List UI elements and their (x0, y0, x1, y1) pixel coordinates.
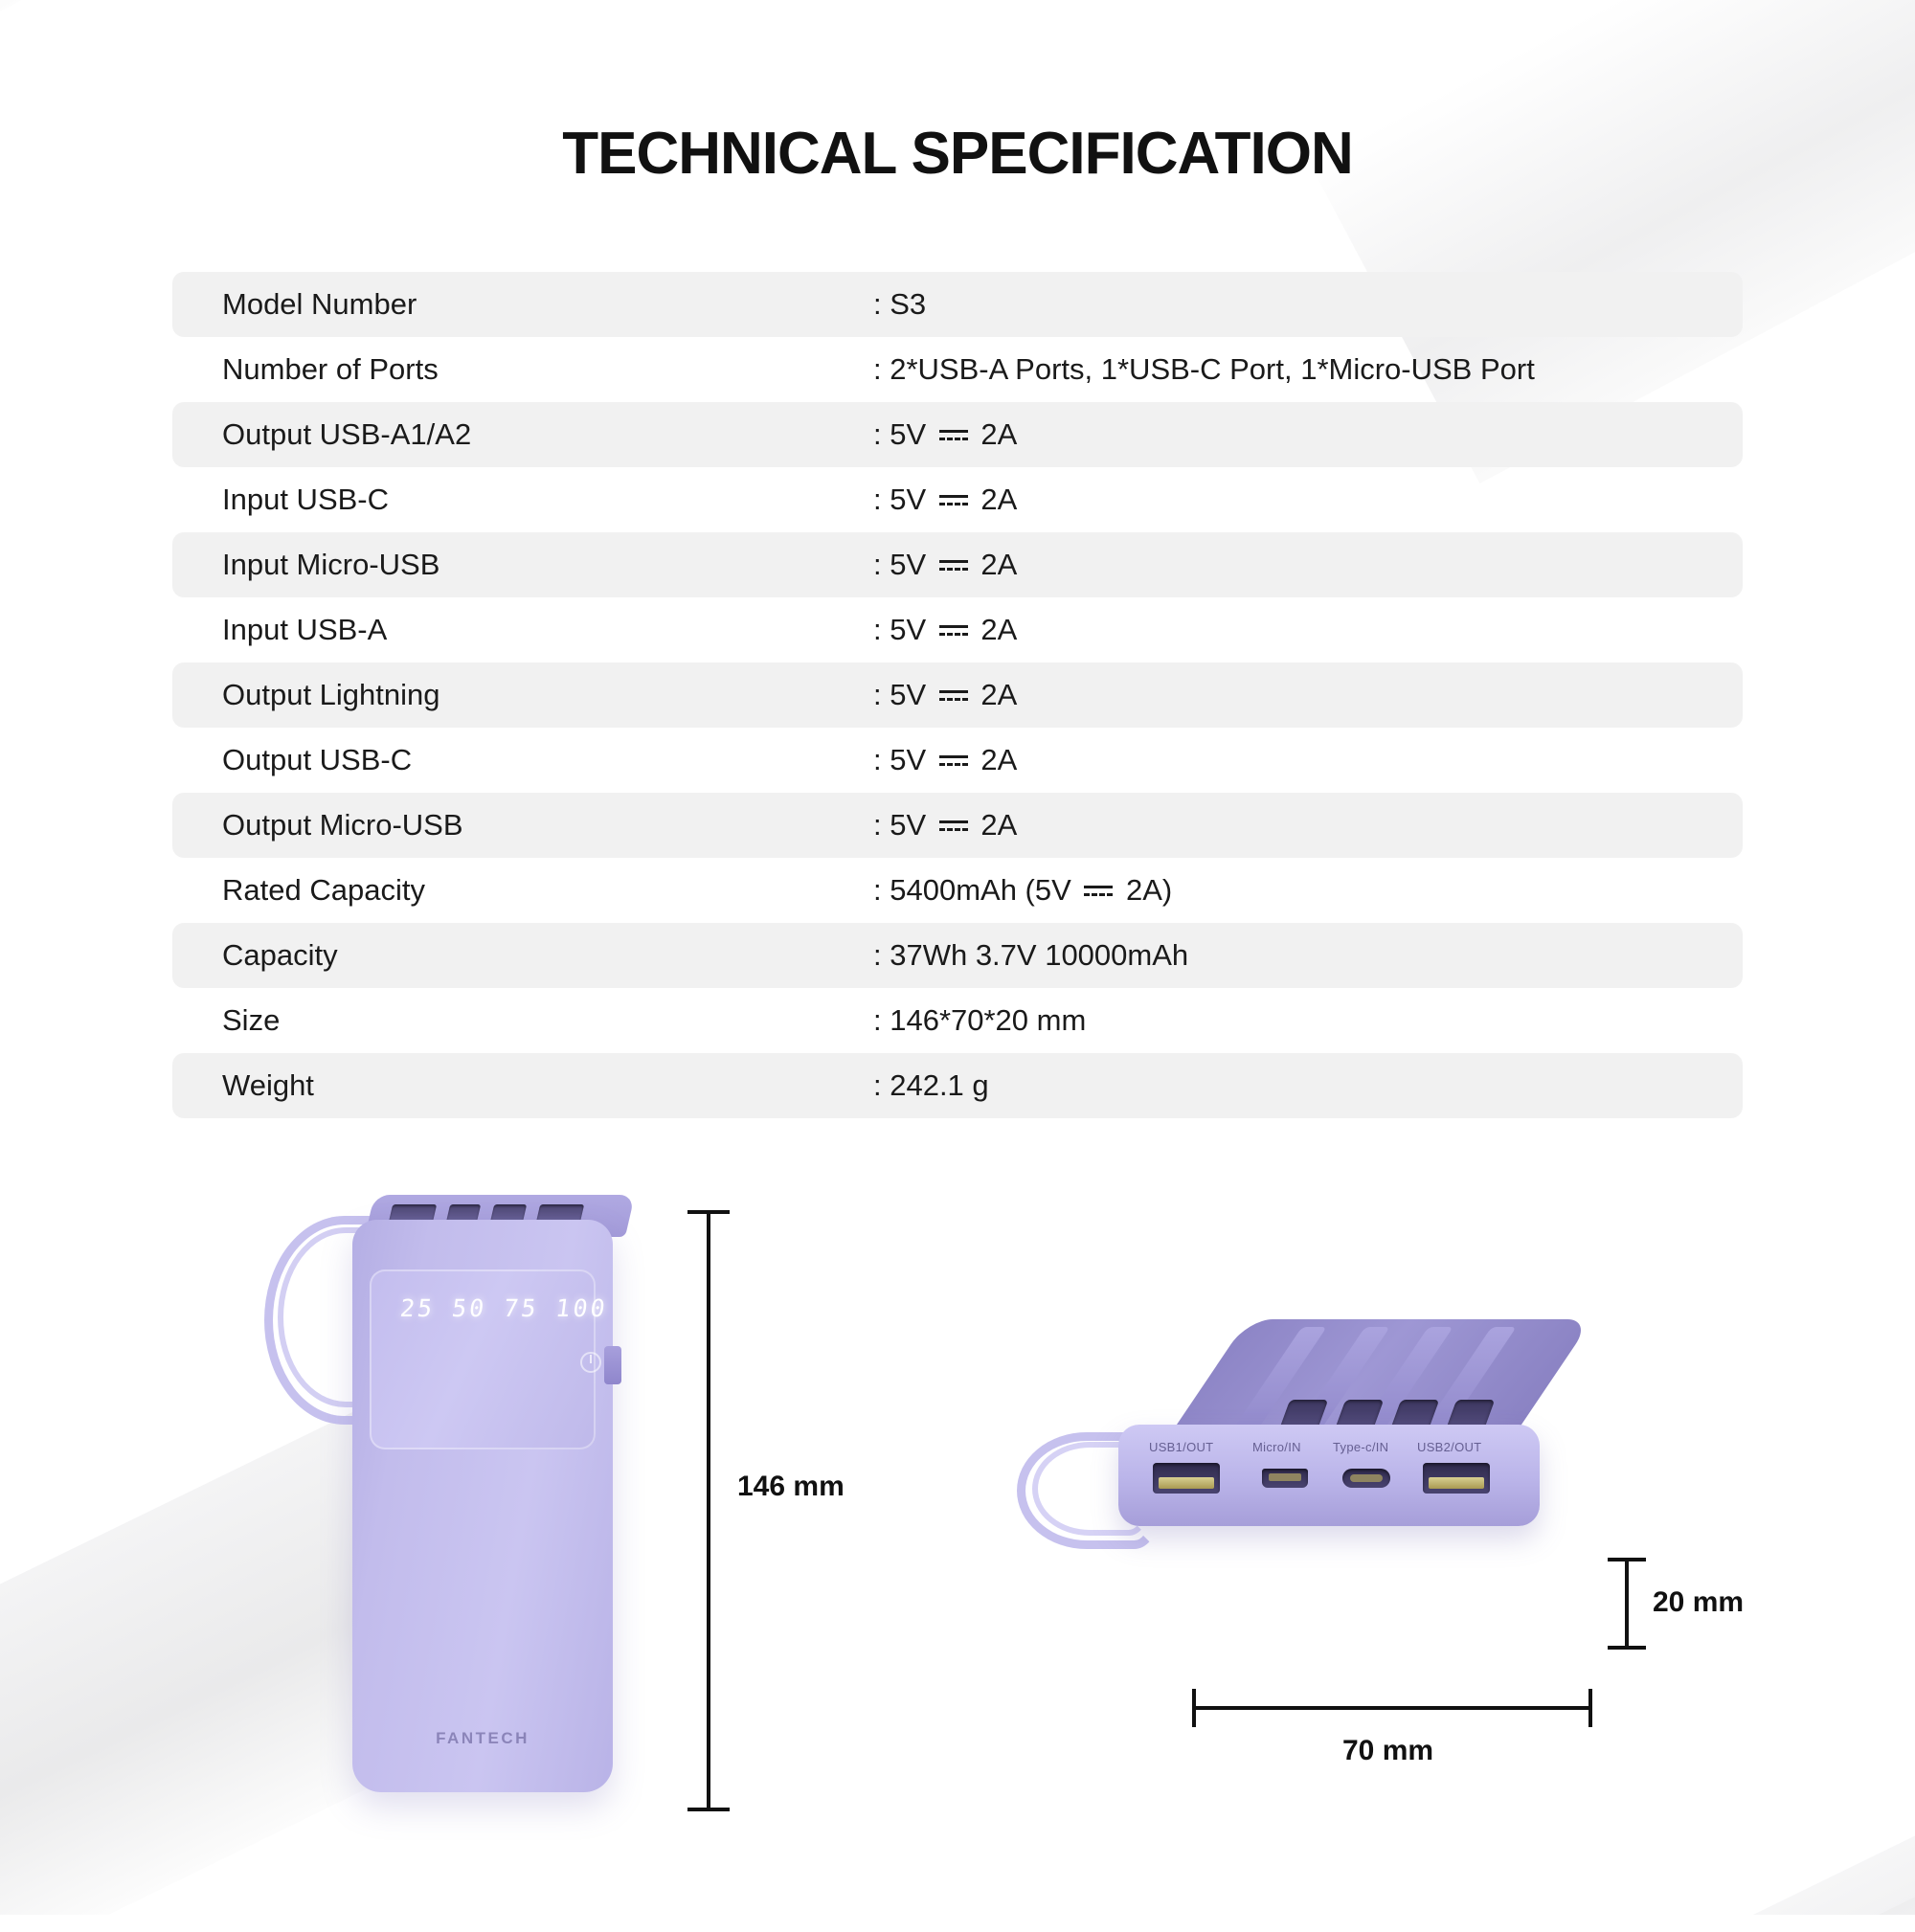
spec-row: Input USB-A: 5V 2A (172, 597, 1743, 663)
device-body-front: 25 50 75 100 FANTECH (352, 1220, 613, 1792)
page-title: TECHNICAL SPECIFICATION (0, 0, 1915, 184)
spec-row: Output USB-A1/A2: 5V 2A (172, 402, 1743, 467)
device-port-face: USB1/OUT Micro/IN Type-c/IN USB2/OUT (1118, 1425, 1540, 1526)
dimension-line-depth (1625, 1558, 1629, 1650)
dimension-label-height: 146 mm (737, 1471, 845, 1503)
spec-label: Output Micro-USB (222, 808, 873, 842)
spec-value: : 2*USB-A Ports, 1*USB-C Port, 1*Micro-U… (873, 352, 1535, 387)
brand-logo: FANTECH (436, 1729, 529, 1748)
dc-current-icon (939, 687, 968, 707)
dc-current-icon (939, 557, 968, 576)
spec-value: : 242.1 g (873, 1068, 989, 1103)
micro-usb-port (1262, 1469, 1308, 1488)
dc-current-icon (939, 492, 968, 511)
spec-label: Size (222, 1003, 873, 1038)
port-label-typec: Type-c/IN (1333, 1440, 1388, 1454)
power-bank-front-view: 25 50 75 100 FANTECH (352, 1195, 640, 1817)
dc-current-icon (939, 818, 968, 837)
spec-value: : 5V 2A (873, 743, 1017, 777)
usb-a-port-2 (1423, 1463, 1490, 1494)
spec-row: Weight: 242.1 g (172, 1053, 1743, 1118)
port-label-usb2: USB2/OUT (1417, 1440, 1481, 1454)
dimension-label-depth: 20 mm (1653, 1586, 1744, 1619)
spec-label: Output Lightning (222, 678, 873, 712)
spec-row: Input Micro-USB: 5V 2A (172, 532, 1743, 597)
spec-row: Size: 146*70*20 mm (172, 988, 1743, 1053)
spec-label: Model Number (222, 287, 873, 322)
port-label-micro: Micro/IN (1252, 1440, 1301, 1454)
usb-c-port (1342, 1469, 1390, 1488)
spec-row: Number of Ports: 2*USB-A Ports, 1*USB-C … (172, 337, 1743, 402)
power-bank-port-view: USB1/OUT Micro/IN Type-c/IN USB2/OUT (1092, 1319, 1589, 1721)
dimension-line-width (1192, 1706, 1592, 1710)
usb-a-port-1 (1153, 1463, 1220, 1494)
power-icon (580, 1352, 601, 1373)
spec-sheet-page: TECHNICAL SPECIFICATION Model Number: S3… (0, 0, 1915, 1932)
spec-label: Input Micro-USB (222, 548, 873, 582)
spec-row: Model Number: S3 (172, 272, 1743, 337)
spec-row: Output USB-C: 5V 2A (172, 728, 1743, 793)
dimension-label-width: 70 mm (1342, 1735, 1433, 1767)
dc-current-icon (1084, 883, 1113, 902)
product-illustrations: 25 50 75 100 FANTECH 146 mm USB1/OUT Mic… (0, 1176, 1915, 1932)
dc-current-icon (939, 622, 968, 641)
specification-table: Model Number: S3Number of Ports: 2*USB-A… (172, 272, 1743, 1118)
spec-value: : 5V 2A (873, 613, 1017, 647)
led-level-readout: 25 50 75 100 (398, 1294, 609, 1322)
spec-value: : 37Wh 3.7V 10000mAh (873, 938, 1188, 973)
spec-row: Capacity: 37Wh 3.7V 10000mAh (172, 923, 1743, 988)
spec-value: : 5V 2A (873, 417, 1017, 452)
dc-current-icon (939, 427, 968, 446)
spec-label: Input USB-C (222, 483, 873, 517)
spec-label: Number of Ports (222, 352, 873, 387)
spec-label: Rated Capacity (222, 873, 873, 908)
spec-value: : 146*70*20 mm (873, 1003, 1086, 1038)
spec-label: Capacity (222, 938, 873, 973)
dc-current-icon (939, 753, 968, 772)
spec-label: Input USB-A (222, 613, 873, 647)
spec-row: Output Micro-USB: 5V 2A (172, 793, 1743, 858)
spec-row: Output Lightning: 5V 2A (172, 663, 1743, 728)
spec-row: Rated Capacity: 5400mAh (5V 2A) (172, 858, 1743, 923)
spec-value: : 5V 2A (873, 548, 1017, 582)
dimension-line-height (707, 1210, 710, 1811)
port-label-usb1: USB1/OUT (1149, 1440, 1213, 1454)
spec-label: Weight (222, 1068, 873, 1103)
power-button[interactable] (604, 1346, 621, 1384)
spec-label: Output USB-C (222, 743, 873, 777)
spec-value: : 5V 2A (873, 678, 1017, 712)
spec-row: Input USB-C: 5V 2A (172, 467, 1743, 532)
spec-value: : 5400mAh (5V 2A) (873, 873, 1172, 908)
spec-value: : 5V 2A (873, 483, 1017, 517)
spec-value: : S3 (873, 287, 926, 322)
spec-value: : 5V 2A (873, 808, 1017, 842)
spec-label: Output USB-A1/A2 (222, 417, 873, 452)
